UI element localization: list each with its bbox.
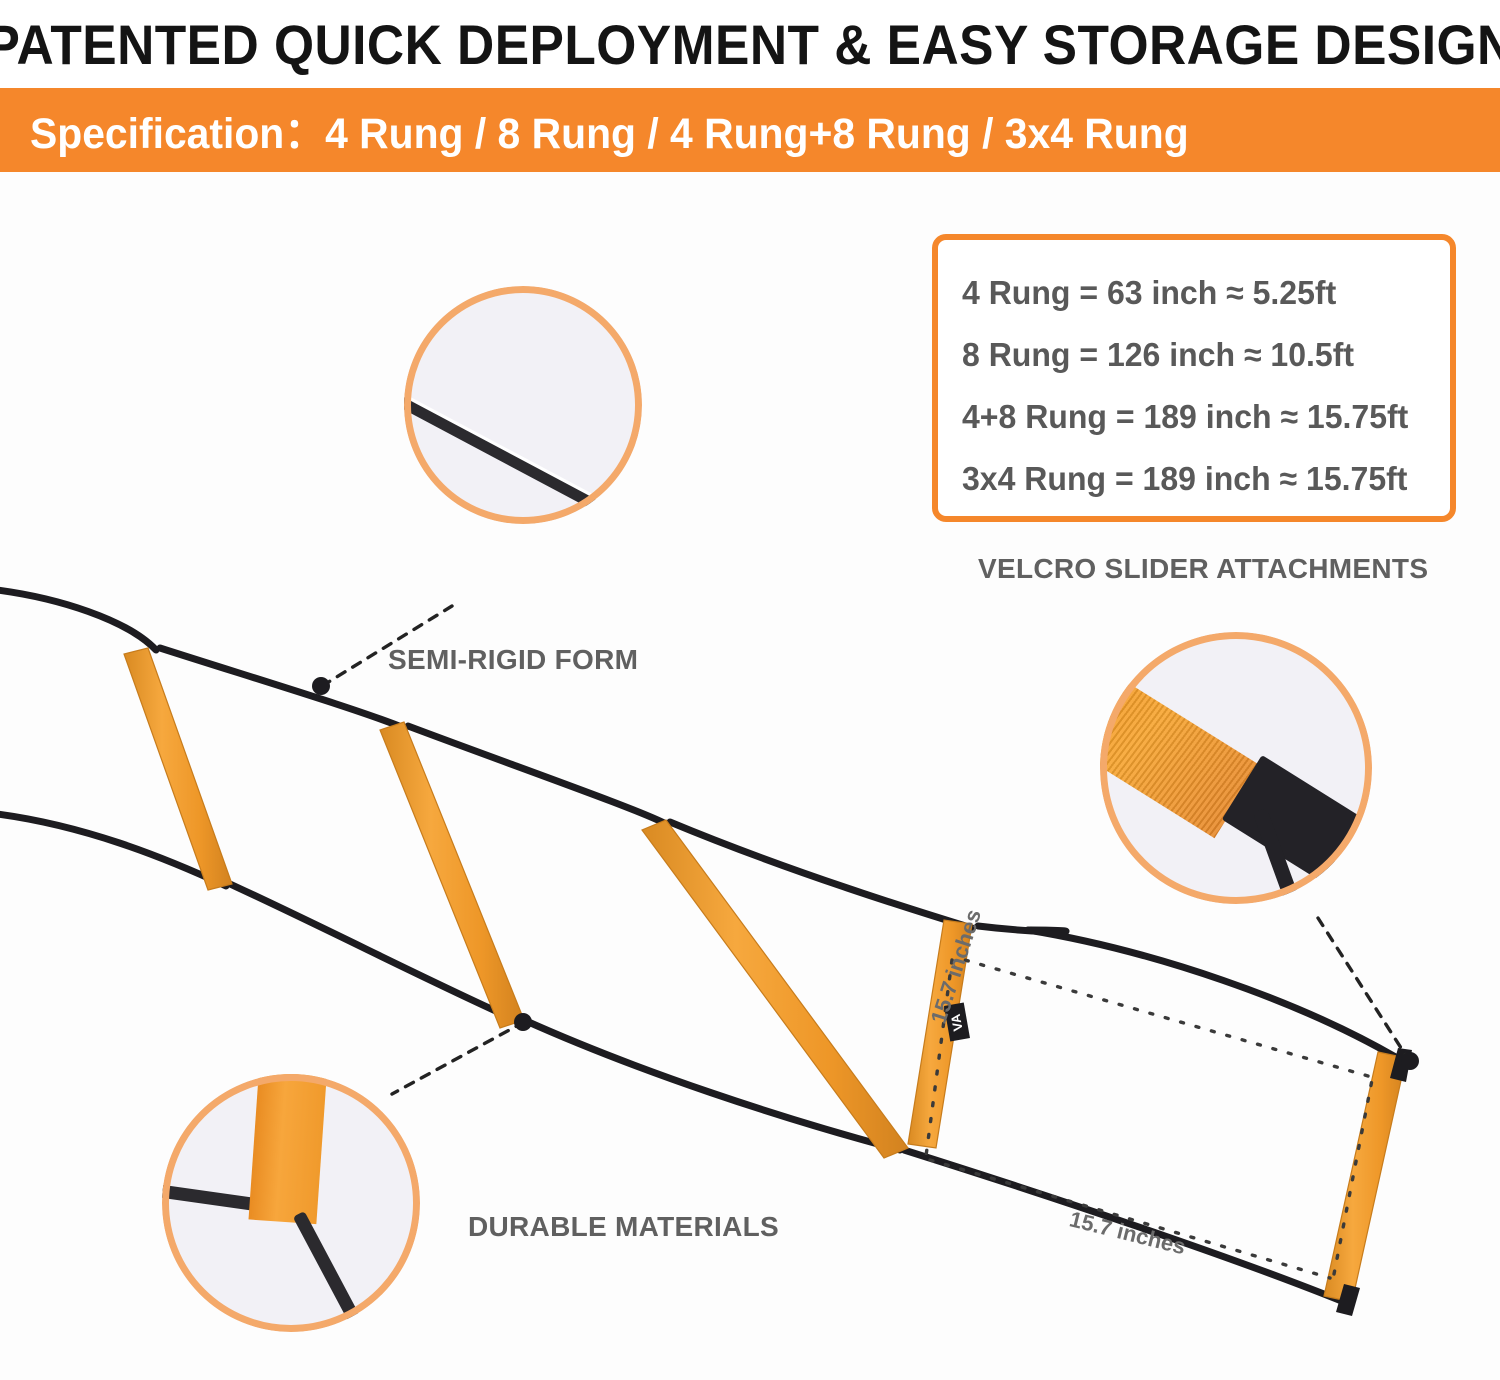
callout-label-durable-materials: DURABLE MATERIALS	[468, 1211, 779, 1243]
magnifier-durable-materials	[162, 1074, 420, 1332]
specification-box: 4 Rung = 63 inch ≈ 5.25ft 8 Rung = 126 i…	[932, 234, 1456, 522]
spec-row-4-rung: 4 Rung = 63 inch ≈ 5.25ft	[962, 262, 1435, 324]
magnifier-velcro-slider	[1100, 632, 1372, 904]
spec-row-4-plus-8-rung: 4+8 Rung = 189 inch ≈ 15.75ft	[962, 386, 1435, 448]
spec-row-8-rung: 8 Rung = 126 inch ≈ 10.5ft	[962, 324, 1435, 386]
magnifier-semi-rigid-form	[404, 286, 642, 524]
spec-row-3x4-rung: 3x4 Rung = 189 inch ≈ 15.75ft	[962, 448, 1435, 510]
infographic-page: PATENTED QUICK DEPLOYMENT & EASY STORAGE…	[0, 0, 1500, 1380]
callout-label-semi-rigid-form: SEMI-RIGID FORM	[388, 644, 638, 676]
durable-cord-right	[293, 1211, 366, 1332]
durable-rung-strap	[249, 1074, 328, 1224]
magnifier-ring	[404, 286, 642, 524]
callout-label-velcro-slider-attachments: VELCRO SLIDER ATTACHMENTS	[978, 553, 1428, 585]
